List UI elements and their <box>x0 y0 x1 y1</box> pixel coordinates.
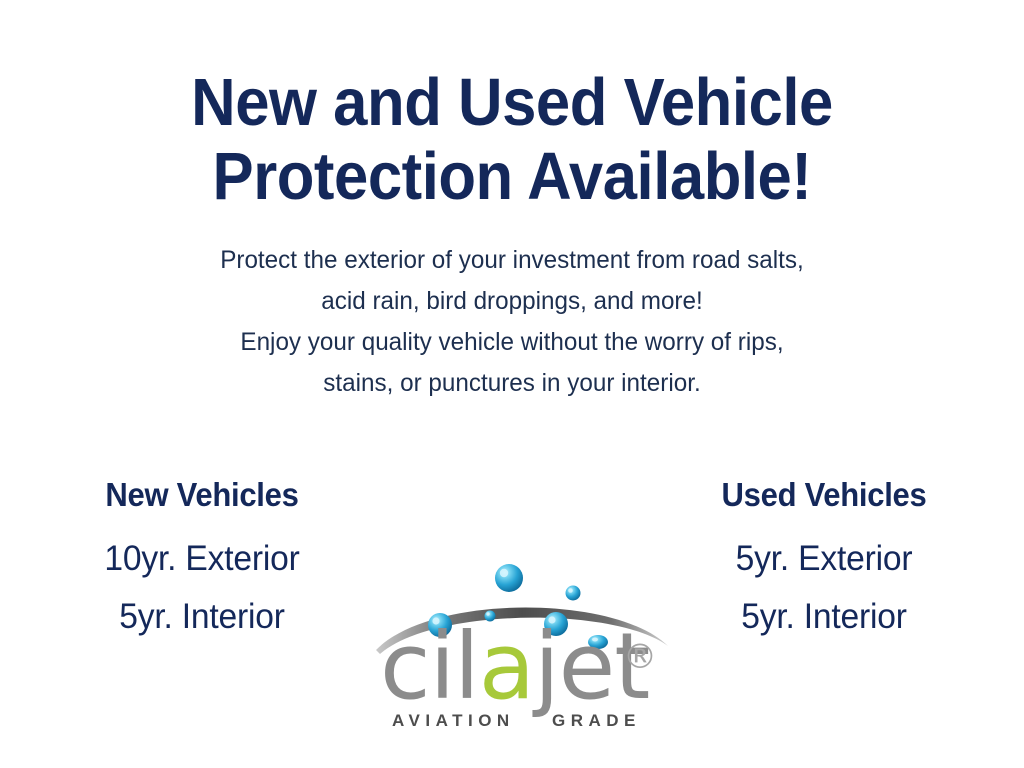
bubble-small-upper-right-highlight <box>568 588 573 593</box>
new-vehicles-heading: New Vehicles <box>33 474 371 516</box>
bubble-large-center-highlight <box>500 569 508 577</box>
subtitle-paragraph: Protect the exterior of your investment … <box>15 240 1008 404</box>
logo-wordmark: cilajet <box>380 613 649 720</box>
subtitle-line-2: acid rain, bird droppings, and more! <box>15 281 1008 322</box>
new-vehicles-exterior-term: 10yr. Exterior <box>29 530 375 588</box>
cilajet-logo: cilajet ® AVIATION GRADE <box>370 550 675 735</box>
subtitle-line-4: stains, or punctures in your interior. <box>15 363 1008 404</box>
logo-tagline-right: GRADE <box>552 711 641 730</box>
new-vehicles-interior-term: 5yr. Interior <box>29 588 375 646</box>
used-vehicles-exterior-term: 5yr. Exterior <box>651 530 997 588</box>
page-title-line-1: New and Used Vehicle <box>41 66 983 140</box>
used-vehicles-heading: Used Vehicles <box>655 474 993 516</box>
logo-registered-mark-icon: ® <box>623 637 657 677</box>
new-vehicles-column: New Vehicles 10yr. Exterior 5yr. Interio… <box>22 474 382 646</box>
page-title: New and Used Vehicle Protection Availabl… <box>41 66 983 214</box>
page-title-line-2: Protection Available! <box>41 140 983 214</box>
bubble-large-center <box>495 564 523 592</box>
logo-tagline-left: AVIATION <box>392 711 515 730</box>
subtitle-line-3: Enjoy your quality vehicle without the w… <box>15 322 1008 363</box>
used-vehicles-interior-term: 5yr. Interior <box>651 588 997 646</box>
bubble-small-upper-right <box>566 586 581 601</box>
logo-wordmark-a: a <box>479 613 534 720</box>
slide-canvas: New and Used Vehicle Protection Availabl… <box>0 0 1024 768</box>
used-vehicles-column: Used Vehicles 5yr. Exterior 5yr. Interio… <box>644 474 1004 646</box>
subtitle-line-1: Protect the exterior of your investment … <box>15 240 1008 281</box>
logo-wordmark-cil: cil <box>380 613 479 720</box>
